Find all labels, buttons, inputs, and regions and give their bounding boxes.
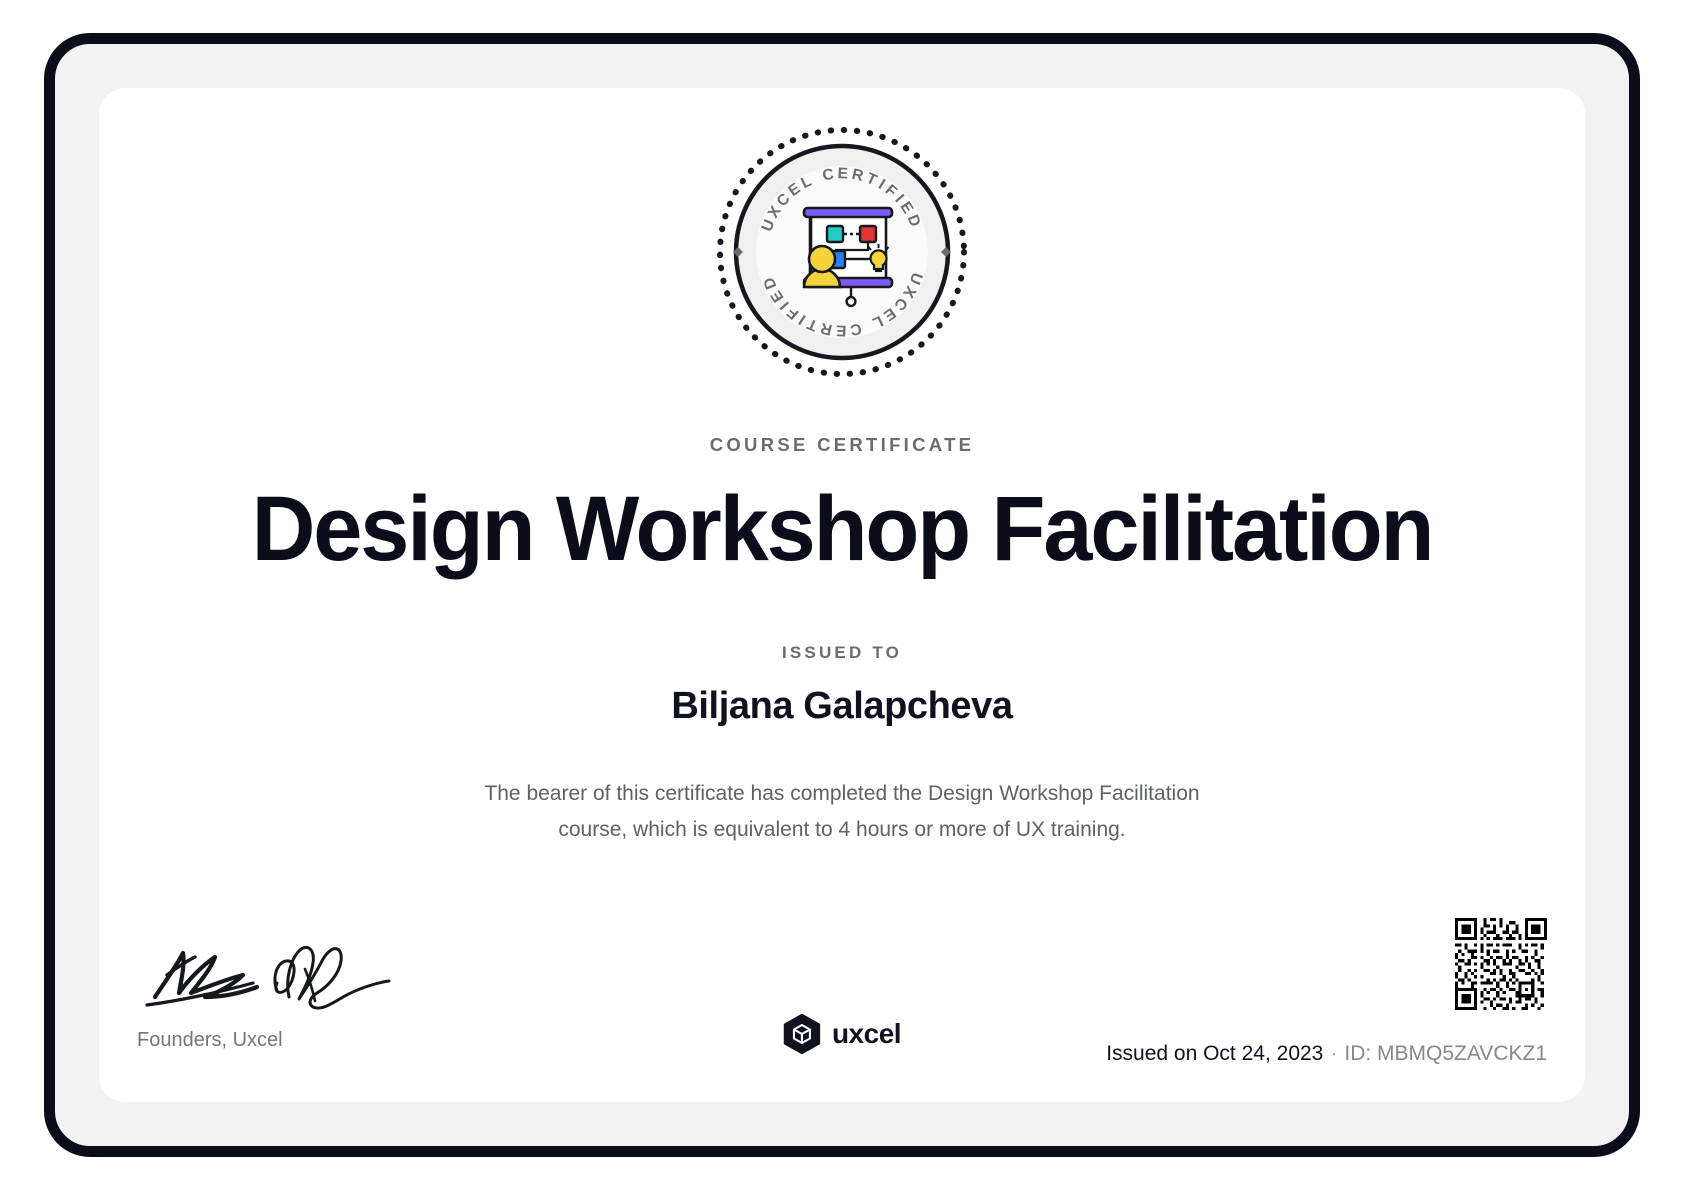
page-title: Design Workshop Facilitation [129, 480, 1556, 578]
certificate-footer: Founders, Uxcel uxcel [99, 892, 1585, 1102]
signature-block: Founders, Uxcel [137, 933, 467, 1052]
badge-seal-icon: UXCEL CERTIFIED UXCEL CERTIFIED [716, 126, 968, 378]
certificate-card: UXCEL CERTIFIED UXCEL CERTIFIED [99, 88, 1585, 1102]
recipient-name: Biljana Galapcheva [99, 685, 1585, 728]
certificate-id: ID: MBMQ5ZAVCKZ1 [1344, 1042, 1547, 1065]
issued-date: Issued on Oct 24, 2023 [1106, 1042, 1323, 1065]
certification-badge: UXCEL CERTIFIED UXCEL CERTIFIED [99, 126, 1585, 378]
meta-separator: · [1330, 1042, 1337, 1065]
uxcel-logo: uxcel [783, 1014, 901, 1054]
certificate-eyebrow: COURSE CERTIFICATE [99, 434, 1585, 456]
uxcel-hexagon-icon [783, 1014, 821, 1054]
certificate-frame: UXCEL CERTIFIED UXCEL CERTIFIED [44, 33, 1640, 1157]
uxcel-wordmark: uxcel [832, 1018, 901, 1050]
description-line-2: course, which is equivalent to 4 hours o… [558, 818, 1125, 841]
issued-to-label: ISSUED TO [99, 643, 1585, 663]
certificate-description: The bearer of this certificate has compl… [437, 776, 1247, 848]
description-line-1: The bearer of this certificate has compl… [484, 782, 1199, 805]
certificate-meta: Issued on Oct 24, 2023·ID: MBMQ5ZAVCKZ1 [1106, 1042, 1547, 1066]
founder-signatures-icon [137, 935, 437, 1019]
verification-qr-code[interactable] [1455, 918, 1547, 1010]
signature-caption: Founders, Uxcel [137, 1029, 467, 1052]
